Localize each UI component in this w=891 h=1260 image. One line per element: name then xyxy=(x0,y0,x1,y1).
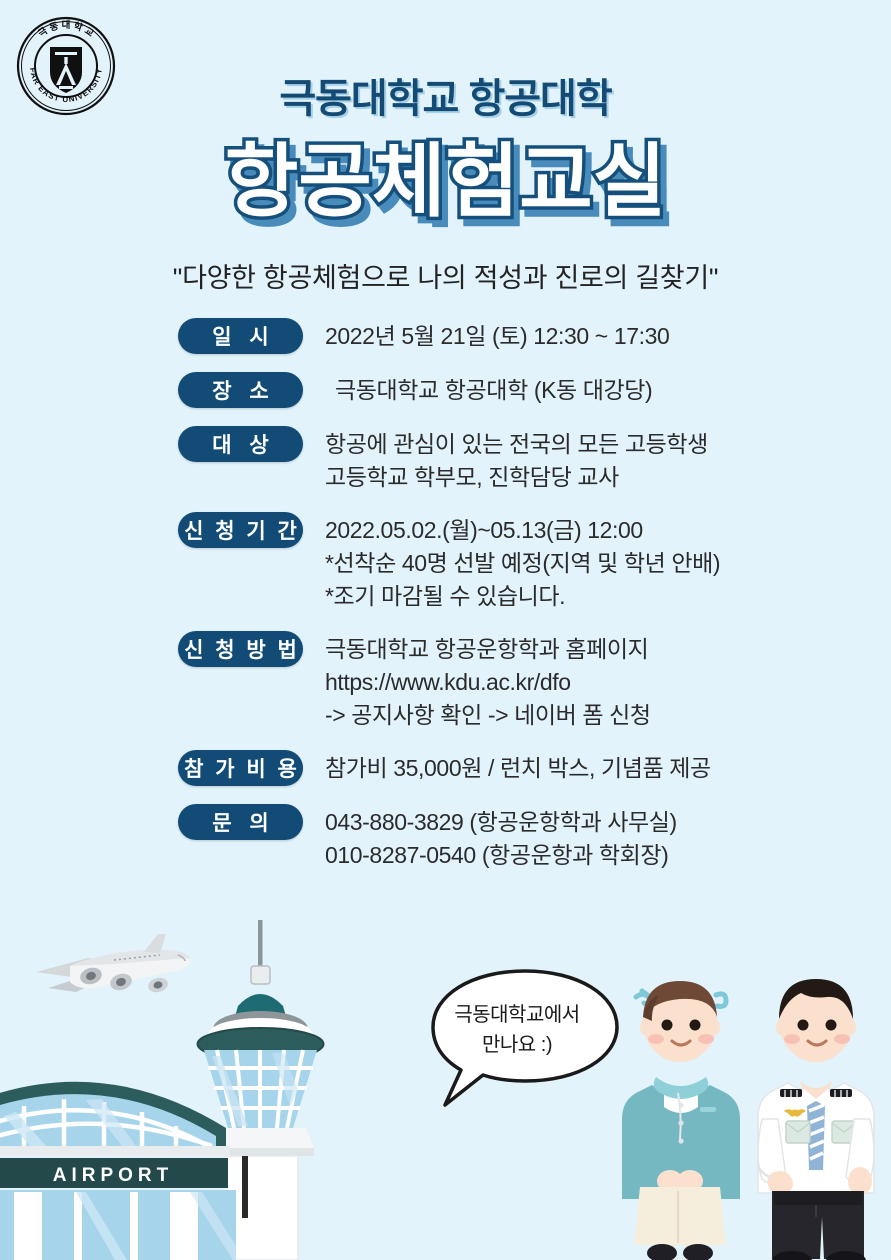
info-label-pill: 참 가 비 용 xyxy=(178,750,303,786)
airplane-icon xyxy=(18,930,208,1020)
page-title: 항공체험교실 xyxy=(0,140,891,224)
crew-figures-icon xyxy=(612,965,891,1260)
info-values: 043-880-3829 (항공운항학과 사무실)010-8287-0540 (… xyxy=(325,804,677,872)
info-row: 대 상항공에 관심이 있는 전국의 모든 고등학생고등학교 학부모, 진학담당 … xyxy=(0,426,891,494)
info-value-line: 2022.05.02.(월)~05.13(금) 12:00 xyxy=(325,514,720,547)
info-value-line: 참가비 35,000원 / 런치 박스, 기념품 제공 xyxy=(325,752,711,785)
info-values: 참가비 35,000원 / 런치 박스, 기념품 제공 xyxy=(325,750,711,785)
info-label-pill: 신 청 기 간 xyxy=(178,512,303,548)
speech-bubble-text: 극동대학교에서 만나요 :) xyxy=(432,1000,602,1060)
flight-attendant-figure xyxy=(622,981,740,1260)
airport-terminal-icon: AIRPORT xyxy=(0,1050,290,1260)
airport-sign-text: AIRPORT xyxy=(53,1165,174,1186)
info-label-pill: 대 상 xyxy=(178,426,303,462)
info-label-pill: 일 시 xyxy=(178,318,303,354)
info-label-pill: 신 청 방 법 xyxy=(178,631,303,667)
info-row: 참 가 비 용참가비 35,000원 / 런치 박스, 기념품 제공 xyxy=(0,750,891,786)
info-row: 일 시2022년 5월 21일 (토) 12:30 ~ 17:30 xyxy=(0,318,891,354)
info-values: 2022.05.02.(월)~05.13(금) 12:00*선착순 40명 선발… xyxy=(325,512,720,613)
info-values: 극동대학교 항공대학 (K동 대강당) xyxy=(325,372,652,407)
info-values: 2022년 5월 21일 (토) 12:30 ~ 17:30 xyxy=(325,318,669,353)
info-values: 극동대학교 항공운항학과 홈페이지https://www.kdu.ac.kr/d… xyxy=(325,631,651,732)
subtitle-text: "다양한 항공체험으로 나의 적성과 진로의 길찾기" xyxy=(0,256,891,295)
info-value-line: 010-8287-0540 (항공운항과 학회장) xyxy=(325,839,677,872)
info-value-line: *조기 마감될 수 있습니다. xyxy=(325,580,720,613)
info-label-pill: 문 의 xyxy=(178,804,303,840)
info-row: 장 소극동대학교 항공대학 (K동 대강당) xyxy=(0,372,891,408)
speech-bubble-icon xyxy=(425,965,625,1115)
info-value-line: 2022년 5월 21일 (토) 12:30 ~ 17:30 xyxy=(325,320,669,353)
kicker-text: 극동대학교 항공대학 xyxy=(0,66,891,124)
info-value-line: 043-880-3829 (항공운항학과 사무실) xyxy=(325,806,677,839)
info-value-line: https://www.kdu.ac.kr/dfo xyxy=(325,666,651,699)
info-row: 문 의043-880-3829 (항공운항학과 사무실)010-8287-054… xyxy=(0,804,891,872)
info-label-pill: 장 소 xyxy=(178,372,303,408)
info-value-line: *선착순 40명 선발 예정(지역 및 학년 안배) xyxy=(325,547,720,580)
control-tower-icon xyxy=(172,920,352,1260)
poster-canvas: 극 동 대 학 교 FAR EAST UNIVERSITY 극동대학교 항공대학… xyxy=(0,0,891,1260)
info-value-line: 극동대학교 항공운항학과 홈페이지 xyxy=(325,633,651,666)
pilot-figure xyxy=(758,979,874,1260)
info-value-line: -> 공지사항 확인 -> 네이버 폼 신청 xyxy=(325,699,651,732)
info-values: 항공에 관심이 있는 전국의 모든 고등학생고등학교 학부모, 진학담당 교사 xyxy=(325,426,708,494)
info-value-line: 항공에 관심이 있는 전국의 모든 고등학생 xyxy=(325,428,708,461)
info-value-line: 극동대학교 항공대학 (K동 대강당) xyxy=(325,374,652,407)
info-row: 신 청 방 법극동대학교 항공운항학과 홈페이지https://www.kdu.… xyxy=(0,631,891,732)
info-list: 일 시2022년 5월 21일 (토) 12:30 ~ 17:30장 소극동대학… xyxy=(0,318,891,872)
info-value-line: 고등학교 학부모, 진학담당 교사 xyxy=(325,461,708,494)
info-row: 신 청 기 간2022.05.02.(월)~05.13(금) 12:00*선착순… xyxy=(0,512,891,613)
